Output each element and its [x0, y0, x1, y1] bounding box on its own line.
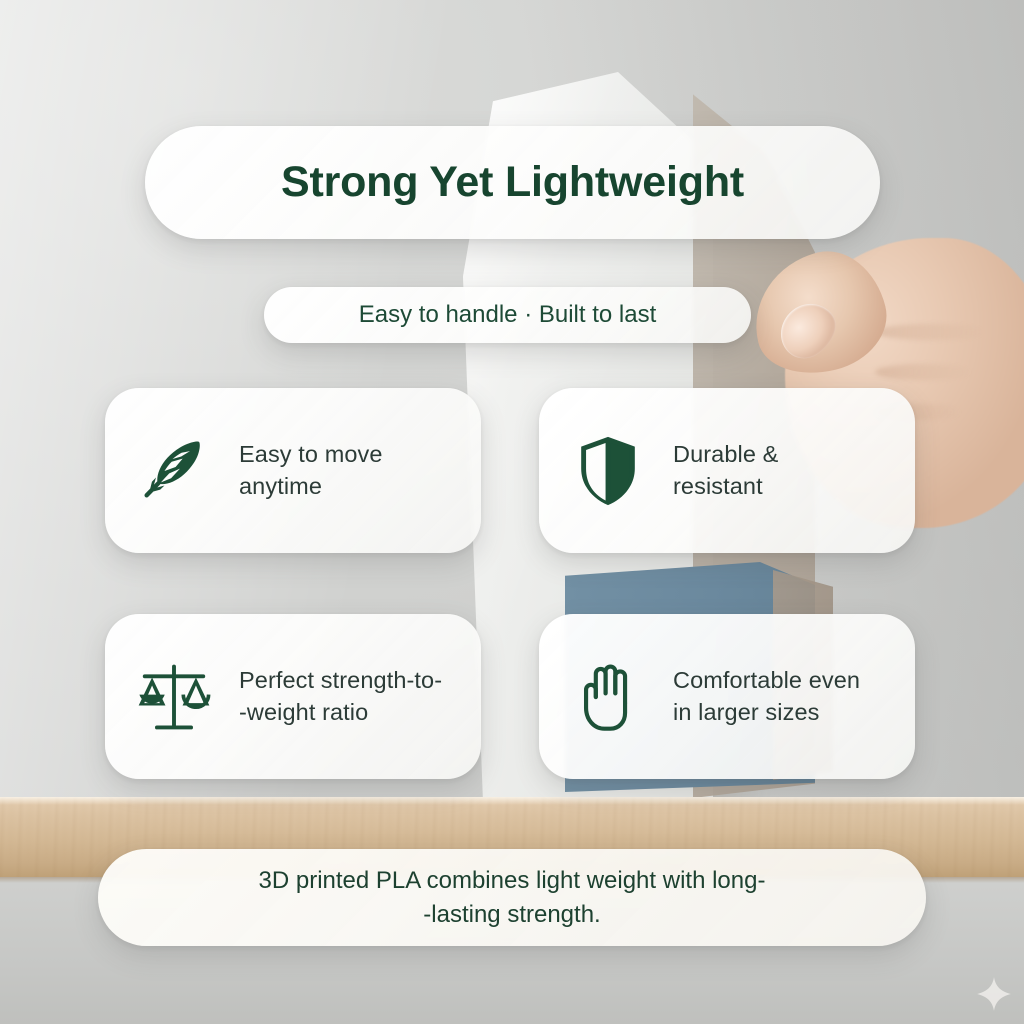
- feature-card-label: Easy to moveanytime: [239, 439, 383, 501]
- footer-banner: 3D printed PLA combines light weight wit…: [98, 849, 926, 946]
- footer-text: 3D printed PLA combines light weight wit…: [259, 864, 766, 931]
- feature-card-label: Perfect strength-to--weight ratio: [239, 665, 442, 727]
- feature-card-easy-to-move[interactable]: Easy to moveanytime: [105, 388, 481, 553]
- infographic-canvas: Strong Yet Lightweight Easy to handle · …: [0, 0, 1024, 1024]
- shelf-top-highlight: [0, 797, 1024, 805]
- sparkle-icon: [976, 976, 1012, 1012]
- feature-card-durable[interactable]: Durable &resistant: [539, 388, 915, 553]
- feature-card-strength-ratio[interactable]: Perfect strength-to--weight ratio: [105, 614, 481, 779]
- shield-icon: [569, 432, 647, 510]
- title-pill: Strong Yet Lightweight: [145, 126, 880, 239]
- knuckle-crease-1: [875, 324, 985, 340]
- feather-icon: [135, 432, 213, 510]
- subtitle-pill: Easy to handle · Built to last: [264, 287, 751, 343]
- page-title: Strong Yet Lightweight: [281, 158, 744, 207]
- knuckle-crease-2: [875, 364, 971, 380]
- feature-card-label: Durable &resistant: [673, 439, 778, 501]
- page-subtitle: Easy to handle · Built to last: [359, 301, 657, 329]
- feature-card-label: Comfortable evenin larger sizes: [673, 665, 860, 727]
- hand-icon: [569, 658, 647, 736]
- feature-card-comfortable[interactable]: Comfortable evenin larger sizes: [539, 614, 915, 779]
- scale-icon: [135, 658, 213, 736]
- thumbnail: [770, 293, 846, 368]
